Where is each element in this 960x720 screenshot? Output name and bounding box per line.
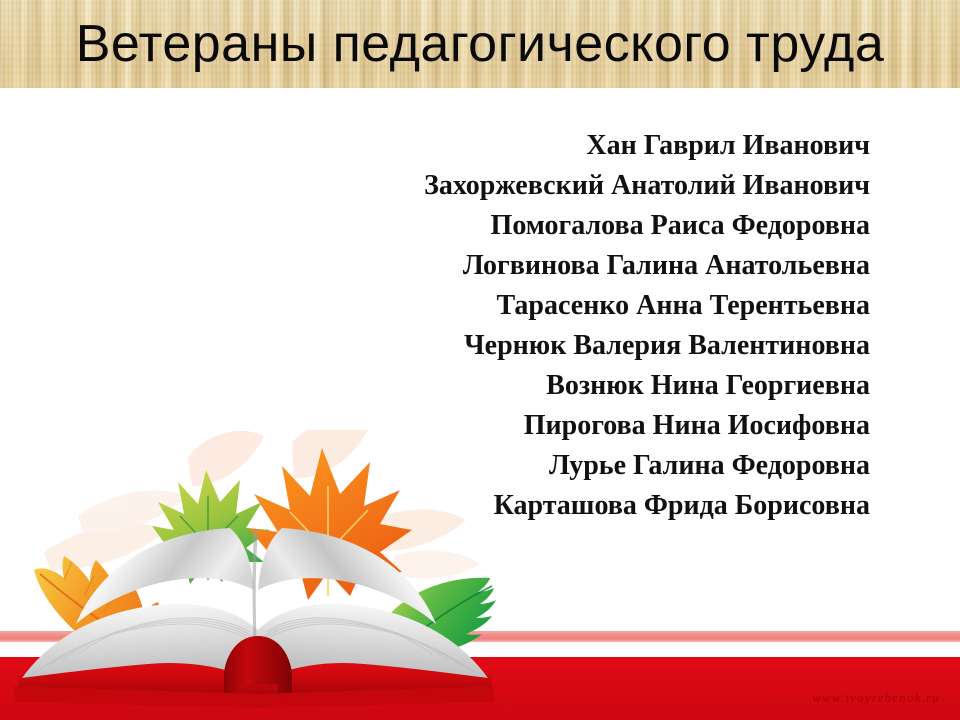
list-item: Карташова Фрида Борисовна xyxy=(250,486,870,526)
list-item: Пирогова Нина Иосифовна xyxy=(250,406,870,446)
list-item: Вознюк Нина Георгиевна xyxy=(250,366,870,406)
list-item: Захоржевский Анатолий Иванович xyxy=(250,166,870,206)
list-item: Помогалова Раиса Федоровна xyxy=(250,206,870,246)
list-item: Лурье Галина Федоровна xyxy=(250,446,870,486)
list-item: Тарасенко Анна Терентьевна xyxy=(250,286,870,326)
footer-accent-stripe xyxy=(0,631,960,642)
source-watermark: www.tvoyrebenok.ru xyxy=(812,690,940,706)
veteran-names-list: Хан Гаврил Иванович Захоржевский Анатоли… xyxy=(250,126,870,526)
slide-canvas: Ветераны педагогического труда xyxy=(0,0,960,720)
page-title: Ветераны педагогического труда xyxy=(0,0,960,88)
footer-white-gap xyxy=(0,642,960,657)
list-item: Хан Гаврил Иванович xyxy=(250,126,870,166)
list-item: Чернюк Валерия Валентиновна xyxy=(250,326,870,366)
list-item: Логвинова Галина Анатольевна xyxy=(250,246,870,286)
footer-red-band xyxy=(0,657,960,720)
